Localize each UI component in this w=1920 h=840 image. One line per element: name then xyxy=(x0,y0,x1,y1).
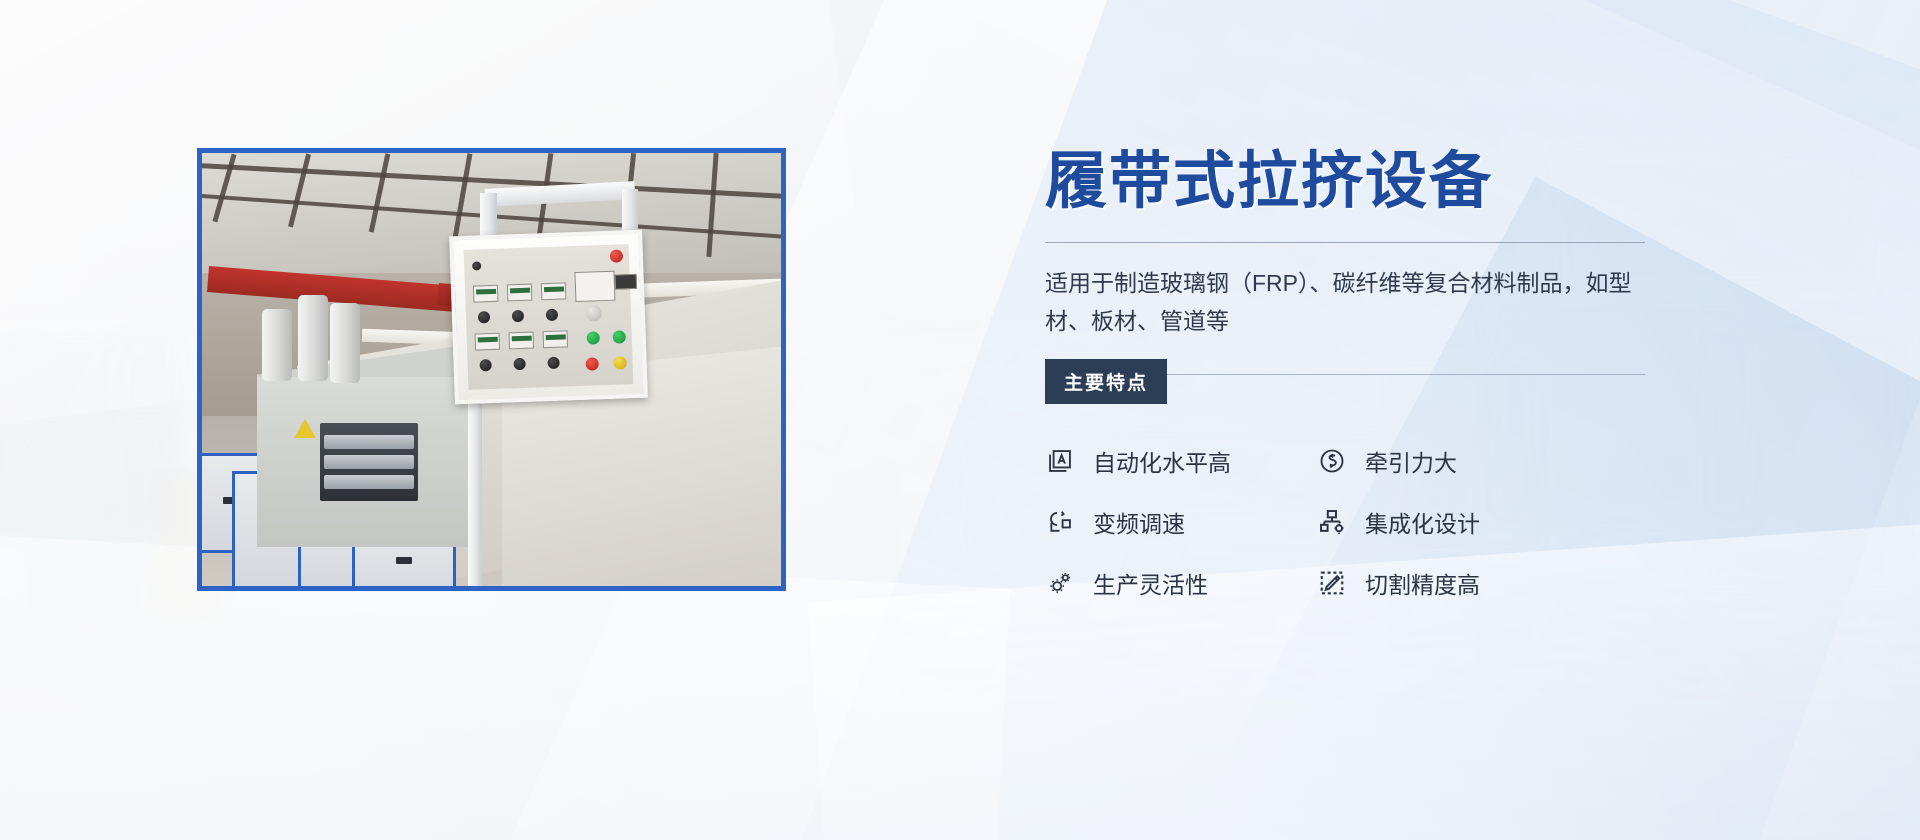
product-photo xyxy=(202,153,781,586)
banner-stage: 履带式拉挤设备 适用于制造玻璃钢（FRP）、碳纤维等复合材料制品，如型材、板材、… xyxy=(0,0,1920,840)
photo-roller xyxy=(324,455,414,469)
feature-list: 自动化水平高 牵引力大 xyxy=(1045,444,1665,600)
feature-item-cutting[interactable]: 切割精度高 xyxy=(1317,566,1589,600)
feature-item-integration[interactable]: 集成化设计 xyxy=(1317,505,1589,539)
photo-indicator-lamp xyxy=(613,356,626,369)
page-title: 履带式拉挤设备 xyxy=(1045,150,1665,214)
photo-indicator-lamp xyxy=(613,330,626,343)
photo-meter xyxy=(509,332,535,350)
feature-label: 变频调速 xyxy=(1093,505,1185,539)
feature-label: 集成化设计 xyxy=(1365,505,1480,539)
traction-icon xyxy=(1317,446,1347,476)
divider-top xyxy=(1045,242,1645,243)
photo-indicator-lamp xyxy=(585,357,598,370)
feature-label: 牵引力大 xyxy=(1365,444,1457,478)
status-badge: 主要特点 xyxy=(1045,359,1167,404)
photo-control-panel-face xyxy=(464,244,634,390)
integration-icon xyxy=(1317,507,1347,537)
photo-roller xyxy=(324,435,414,449)
photo-knob xyxy=(472,261,481,270)
photo-knob xyxy=(478,311,490,323)
photo-knob xyxy=(513,358,525,370)
photo-meter xyxy=(473,285,499,303)
photo-gantry-post xyxy=(468,389,482,586)
photo-meter xyxy=(507,284,533,302)
cutting-icon xyxy=(1317,568,1347,598)
automation-icon xyxy=(1045,446,1075,476)
banner-content: 履带式拉挤设备 适用于制造玻璃钢（FRP）、碳纤维等复合材料制品，如型材、板材、… xyxy=(1045,150,1665,600)
feature-label: 自动化水平高 xyxy=(1093,444,1231,478)
photo-meter xyxy=(475,333,501,351)
feature-item-traction[interactable]: 牵引力大 xyxy=(1317,444,1589,478)
photo-gauge xyxy=(574,271,615,302)
photo-control-panel xyxy=(449,230,648,405)
photo-knob xyxy=(546,309,558,321)
feature-label: 切割精度高 xyxy=(1365,566,1480,600)
photo-selector xyxy=(586,305,603,322)
photo-meter xyxy=(542,330,568,348)
photo-knob xyxy=(479,359,491,371)
feature-item-flexibility[interactable]: 生产灵活性 xyxy=(1045,566,1317,600)
photo-indicator-lamp xyxy=(610,249,623,262)
photo-knob xyxy=(547,357,559,369)
product-photo-card[interactable] xyxy=(197,148,786,591)
photo-cylinder xyxy=(330,303,360,383)
photo-warning-label xyxy=(294,419,316,438)
photo-cylinder xyxy=(298,295,328,381)
banner-subtitle: 适用于制造玻璃钢（FRP）、碳纤维等复合材料制品，如型材、板材、管道等 xyxy=(1045,265,1645,340)
frequency-icon xyxy=(1045,507,1075,537)
photo-display xyxy=(615,274,638,290)
feature-item-frequency[interactable]: 变频调速 xyxy=(1045,505,1317,539)
photo-indicator-lamp xyxy=(587,331,600,344)
feature-label: 生产灵活性 xyxy=(1093,566,1208,600)
gears-icon xyxy=(1045,568,1075,598)
feature-item-automation[interactable]: 自动化水平高 xyxy=(1045,444,1317,478)
photo-roller xyxy=(324,475,414,489)
photo-cylinder xyxy=(262,309,292,381)
photo-knob xyxy=(512,310,524,322)
photo-meter xyxy=(541,282,567,300)
